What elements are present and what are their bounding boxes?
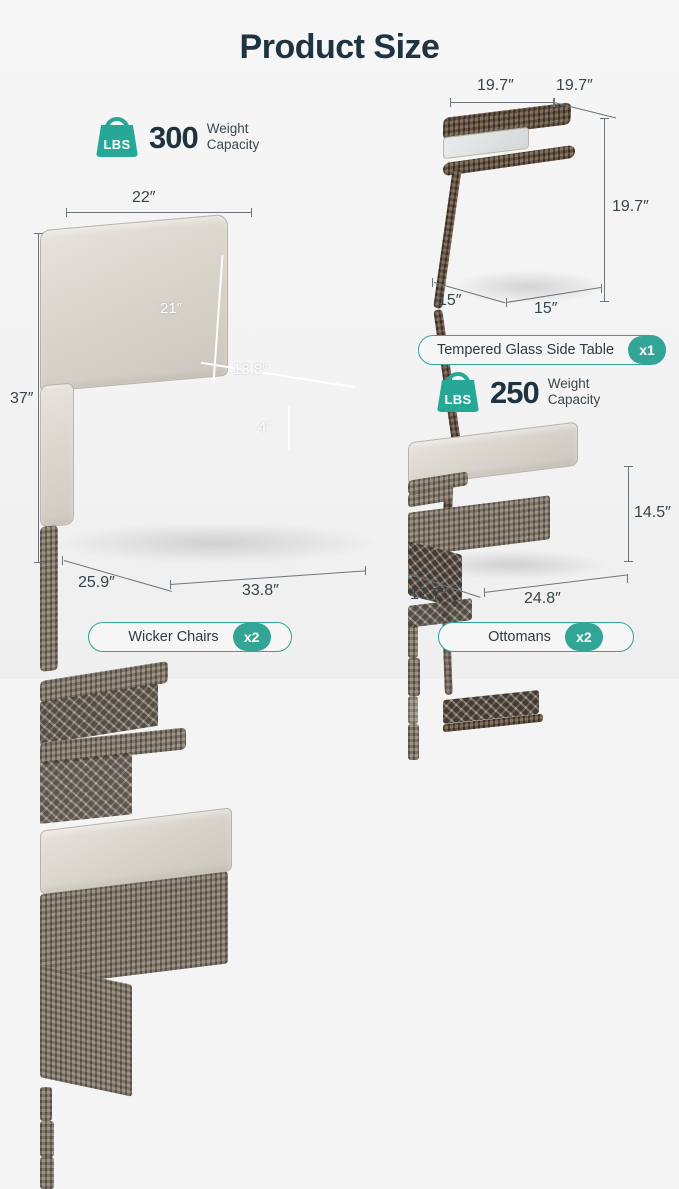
capsule-side-table[interactable]: Tempered Glass Side Table x1 [418, 335, 666, 365]
page-title: Product Size [0, 28, 679, 67]
side-table-top-right-dimension: 19.7″ [554, 78, 620, 116]
ottoman-width-dimension: 24.8″ [484, 578, 632, 610]
chair-weight-caption-line2: Capacity [207, 137, 260, 153]
side-table-top-left-dimension: 19.7″ [450, 78, 556, 106]
chair-leg-front-right [40, 1157, 54, 1189]
capsule-ottomans-label: Ottomans [470, 629, 565, 645]
capsule-wicker-chairs-qty: x2 [233, 623, 271, 651]
chair-weight-caption: Weight Capacity [207, 121, 260, 153]
chair-base-width-label: 33.8″ [242, 582, 279, 600]
page-title-text-b: ize [396, 28, 440, 67]
side-table-base-right-dimension: 15″ [506, 288, 606, 322]
ottoman-height-label: 14.5″ [634, 504, 671, 522]
chair-weight-value: 300 [149, 122, 198, 153]
capsule-ottomans[interactable]: Ottomans x2 [438, 622, 634, 652]
ottoman-leg-front-left [408, 658, 420, 696]
chair-leg-back-left [40, 1087, 52, 1121]
chair-seat-thickness-label: 4″ [258, 419, 272, 436]
ottoman-width-label: 24.8″ [524, 590, 561, 608]
chair-side-panel-left [40, 752, 132, 824]
capsule-wicker-chairs[interactable]: Wicker Chairs x2 [88, 622, 292, 652]
ottoman-weight-caption: Weight Capacity [548, 376, 601, 408]
chair-base-width-dimension: 33.8″ [170, 566, 370, 602]
chair-left-body [40, 965, 132, 1097]
side-table-base-left-label: 15″ [438, 292, 461, 310]
chair-height-label: 37″ [10, 390, 33, 408]
ottoman-leg-back-right [408, 696, 418, 724]
chair-leg-front-left [40, 1121, 54, 1157]
ottoman-leg-back-left [408, 624, 418, 658]
ottoman-weight-caption-line1: Weight [548, 376, 601, 392]
side-table-top-left-label: 19.7″ [477, 77, 514, 95]
chair-seat-depth-dimension: 18.8″ [200, 368, 360, 408]
side-table-base-right-label: 15″ [534, 300, 557, 318]
weight-icon-label: LBS [437, 392, 479, 407]
chair-base-depth-label: 25.9″ [78, 574, 115, 592]
ottoman-weight-capacity-badge: LBS 250 Weight Capacity [437, 372, 600, 412]
chair-weight-capacity-badge: LBS 300 Weight Capacity [96, 117, 259, 157]
capsule-wicker-chairs-label: Wicker Chairs [110, 629, 232, 645]
chair-height-dimension: 37″ [34, 233, 58, 563]
capsule-side-table-qty: x1 [628, 336, 666, 364]
chair-weight-caption-line1: Weight [207, 121, 260, 137]
capsule-ottomans-qty: x2 [565, 623, 603, 651]
chair-base-depth-dimension: 25.9″ [62, 552, 178, 598]
ottoman-weight-value: 250 [490, 377, 539, 408]
ottoman-leg-front-right [408, 724, 419, 760]
ottoman-depth-label: 17.7″ [410, 586, 447, 604]
weight-lbs-icon: LBS [96, 117, 138, 157]
side-table-height-dimension: 19.7″ [600, 118, 648, 302]
side-table-base-left-dimension: 15″ [432, 272, 512, 312]
ottoman-weight-caption-line2: Capacity [548, 392, 601, 408]
chair-seat-depth-label: 18.8″ [233, 361, 268, 378]
side-table-height-label: 19.7″ [612, 198, 649, 216]
side-table-top-right-label: 19.7″ [556, 77, 593, 95]
chair-back-width-dimension: 22″ [66, 192, 252, 216]
page-title-text-a: Product S [240, 28, 396, 66]
chair-back-width-label: 22″ [132, 189, 155, 207]
chair-back-cushion-height-label: 21″ [160, 300, 182, 317]
product-size-infographic: Product Size LBS 300 Weight Capacity [0, 0, 679, 679]
weight-icon-label: LBS [96, 137, 138, 152]
ottoman-illustration [408, 432, 623, 582]
weight-lbs-icon: LBS [437, 372, 479, 412]
chair-seat-thickness-dimension: 4″ [254, 405, 294, 453]
ottoman-height-dimension: 14.5″ [624, 466, 670, 562]
ottoman-depth-dimension: 17.7″ [408, 566, 488, 608]
capsule-side-table-label: Tempered Glass Side Table [419, 342, 628, 358]
